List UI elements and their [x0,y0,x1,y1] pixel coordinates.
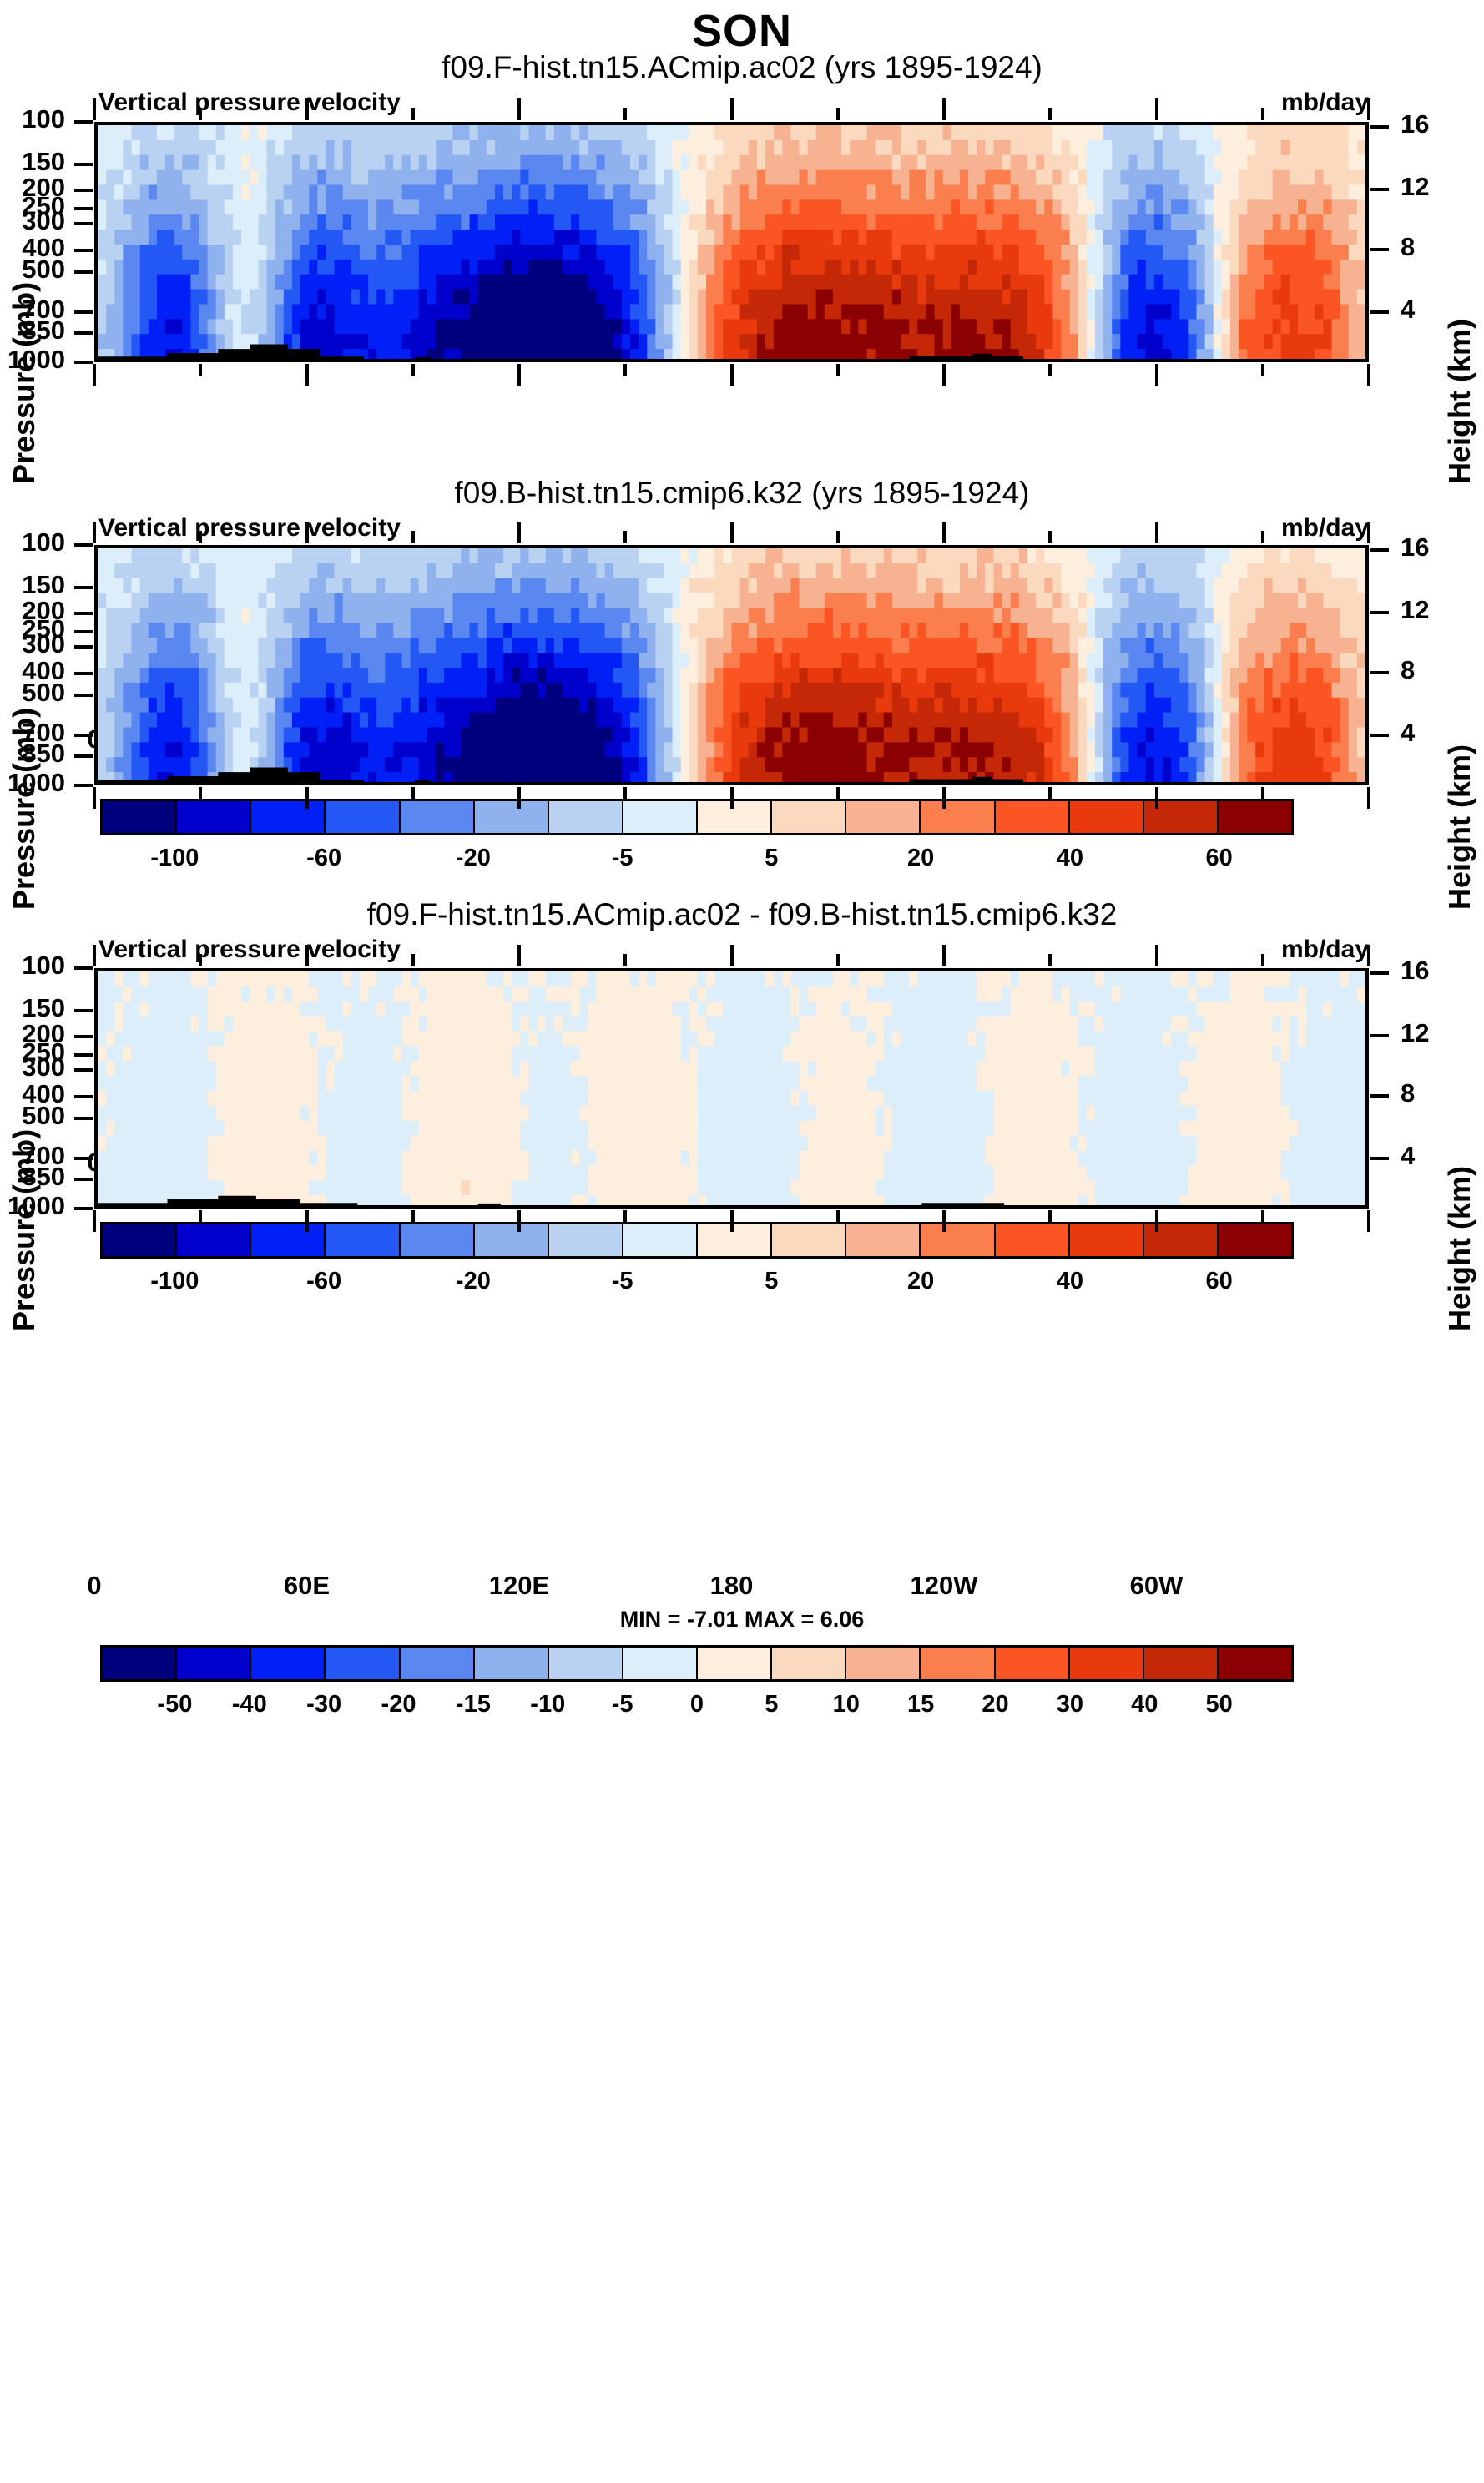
x-tick-minor [1261,787,1264,800]
colorbar-tick-label: -30 [306,1691,341,1718]
x-tick-major-top [1155,522,1158,543]
colorbar-cell [549,801,623,833]
colorbar-cell [846,1224,921,1256]
colorbar-tick-label: 50 [1205,1691,1232,1718]
y-tick-left [74,784,93,787]
panel-1-colorbar[interactable] [100,799,1294,835]
y-tick-left [74,361,93,364]
y-tick-left [74,966,93,970]
colorbar-cell [326,801,400,833]
x-tick-minor-top [1048,954,1052,966]
y-tick-right [1370,125,1389,129]
panel-2-title: f09.B-hist.tn15.cmip6.k32 (yrs 1895-1924… [0,476,1484,511]
x-tick-major-top [517,522,521,543]
y-tick-right [1370,188,1389,191]
colorbar-cell [1070,801,1144,833]
panel-1-colorbar-labels: -100-60-20-55204060 [100,845,1294,878]
colorbar-cell [401,801,475,833]
x-tick-major [730,364,734,386]
y-tick-left [74,207,93,210]
colorbar-cell [549,1224,623,1256]
y-tick-left [74,543,93,547]
y-tick-left [74,630,93,633]
colorbar-tick-label: 20 [907,1268,934,1295]
colorbar-tick-label: -50 [157,1691,192,1718]
colorbar-tick-label: -5 [612,1691,633,1718]
colorbar-cell [251,1224,326,1256]
y-tick-left [74,120,93,124]
panel-2-ylabel-left: Pressure (mb) [7,576,42,910]
colorbar-cell [846,1648,921,1679]
y-tick-label-left: 100 [0,951,65,981]
colorbar-cell [996,801,1070,833]
x-tick-minor [836,364,840,376]
colorbar-cell [475,801,549,833]
colorbar-cell [698,1648,772,1679]
panel-3-plot-area [94,968,1369,1209]
x-tick-label: 60W [1082,1571,1232,1601]
x-tick-minor [199,787,202,800]
x-tick-minor-top [836,108,840,120]
colorbar-cell [103,1224,177,1256]
page-title: SON [0,5,1484,57]
colorbar-tick-label: 60 [1205,1268,1232,1295]
panel-3-ylabel-left: Pressure (mb) [7,997,42,1331]
panel-3-title: f09.F-hist.tn15.ACmip.ac02 - f09.B-hist.… [0,897,1484,932]
y-tick-right [1370,671,1389,674]
colorbar-tick-label: -20 [381,1691,416,1718]
colorbar-tick-label: -20 [456,1268,491,1295]
y-tick-left [74,270,93,274]
panel-1-units-label: mb/day [1281,88,1369,117]
colorbar-tick-label: 0 [690,1691,704,1718]
colorbar-cell [251,801,326,833]
x-tick-major-top [730,98,734,120]
colorbar-cell [103,1648,177,1679]
colorbar-tick-label: 5 [765,845,778,872]
panel-2-plot-area [94,545,1369,785]
panel-1-ylabel-right: Height (km) [1442,150,1477,484]
colorbar-cell [996,1648,1070,1679]
y-tick-left [74,754,93,758]
x-tick-minor-top [623,954,627,966]
x-tick-minor [411,787,415,800]
colorbar-cell [1070,1648,1144,1679]
x-tick-minor-top [199,531,202,543]
panel-3-colorbar[interactable] [100,1645,1294,1682]
colorbar-tick-label: -100 [150,845,199,872]
x-tick-minor-top [623,108,627,120]
colorbar-tick-label: -100 [150,1268,199,1295]
panel-1-title: f09.F-hist.tn15.ACmip.ac02 (yrs 1895-192… [0,50,1484,85]
x-tick-minor [836,787,840,800]
y-tick-left [74,249,93,252]
x-tick-major-top [942,522,946,543]
panel-1-ylabel-left: Pressure (mb) [7,150,42,484]
x-tick-major [1367,787,1370,809]
x-tick-major [1155,1210,1158,1232]
panel-2-variable-label: Vertical pressure velocity [98,514,401,543]
colorbar-tick-label: -60 [306,845,341,872]
x-tick-major-top [93,945,96,966]
y-tick-right [1370,310,1389,314]
x-tick-major-top [730,945,734,966]
x-tick-label: 60E [232,1571,382,1601]
colorbar-cell [772,801,846,833]
x-tick-minor [411,1210,415,1223]
x-tick-major [305,1210,309,1232]
colorbar-cell [177,1648,251,1679]
x-tick-major [1367,364,1370,386]
y-tick-right [1370,971,1389,975]
x-tick-minor [411,364,415,376]
x-tick-major-top [305,98,309,120]
x-tick-major-top [1155,945,1158,966]
x-tick-major [517,1210,521,1232]
colorbar-cell [251,1648,326,1679]
colorbar-cell [326,1648,400,1679]
y-tick-left [74,310,93,314]
colorbar-cell [1219,801,1291,833]
colorbar-cell [1070,1224,1144,1256]
x-tick-minor [199,1210,202,1223]
x-tick-major [93,1210,96,1232]
colorbar-tick-label: -5 [612,845,633,872]
x-tick-major-top [305,945,309,966]
x-tick-minor [836,1210,840,1223]
x-tick-label: 0 [19,1571,169,1601]
colorbar-tick-label: 5 [765,1691,778,1718]
x-tick-minor [199,364,202,376]
x-tick-major [93,364,96,386]
colorbar-cell [177,801,251,833]
colorbar-cell [698,1224,772,1256]
panel-2-ylabel-right: Height (km) [1442,576,1477,910]
x-tick-minor-top [1261,108,1264,120]
y-tick-label-right: 16 [1401,956,1467,986]
colorbar-cell [623,801,698,833]
colorbar-tick-label: 20 [907,845,934,872]
y-tick-left [74,1095,93,1098]
colorbar-cell [1219,1224,1291,1256]
colorbar-cell [475,1224,549,1256]
x-tick-label: 180 [657,1571,807,1601]
x-tick-major-top [93,522,96,543]
x-tick-label: 120W [869,1571,1019,1601]
colorbar-tick-label: 20 [982,1691,1008,1718]
terrain-profile [98,125,1365,359]
colorbar-tick-label: -40 [232,1691,267,1718]
x-tick-minor [623,364,627,376]
y-tick-left [74,1157,93,1160]
y-tick-left [74,1178,93,1181]
x-tick-minor-top [623,531,627,543]
x-tick-major [942,787,946,809]
colorbar-tick-label: 10 [833,1691,860,1718]
colorbar-tick-label: -20 [456,845,491,872]
colorbar-tick-label: 40 [1057,845,1083,872]
colorbar-tick-label: 5 [765,1268,778,1295]
panel-1-variable-label: Vertical pressure velocity [98,88,401,117]
x-tick-major-top [1367,98,1370,120]
x-tick-minor [1048,787,1052,800]
x-tick-minor-top [199,108,202,120]
colorbar-cell [623,1224,698,1256]
colorbar-tick-label: 40 [1131,1691,1158,1718]
terrain-profile [98,548,1365,782]
x-tick-major-top [1155,98,1158,120]
x-tick-minor [1261,364,1264,376]
colorbar-cell [401,1224,475,1256]
y-tick-right [1370,548,1389,552]
x-tick-minor-top [411,531,415,543]
colorbar-tick-label: 30 [1057,1691,1083,1718]
x-tick-minor-top [199,954,202,966]
x-tick-major-top [942,945,946,966]
x-tick-major [730,1210,734,1232]
x-tick-major [730,787,734,809]
x-tick-major [1155,364,1158,386]
colorbar-tick-label: -15 [456,1691,491,1718]
y-tick-left [74,586,93,589]
x-tick-label: 120E [444,1571,594,1601]
x-tick-major-top [730,522,734,543]
y-tick-right [1370,248,1389,251]
panel-3-minmax: MIN = -7.01 MAX = 6.06 [0,1607,1484,1633]
y-tick-left [74,734,93,737]
y-tick-left [74,1207,93,1210]
x-tick-major-top [942,98,946,120]
colorbar-cell [846,801,921,833]
x-tick-major-top [93,98,96,120]
y-tick-right [1370,1034,1389,1037]
colorbar-cell [921,801,995,833]
y-tick-left [74,1068,93,1072]
colorbar-cell [549,1648,623,1679]
y-tick-left [74,694,93,697]
x-tick-major-top [517,98,521,120]
x-tick-major-top [1367,522,1370,543]
x-tick-major [517,364,521,386]
y-tick-label-right: 16 [1401,109,1467,139]
y-tick-left [74,331,93,335]
x-tick-minor [623,787,627,800]
colorbar-cell [772,1224,846,1256]
colorbar-tick-label: 40 [1057,1268,1083,1295]
y-tick-left [74,1035,93,1038]
x-tick-major [305,787,309,809]
colorbar-tick-label: -10 [530,1691,565,1718]
colorbar-cell [1144,1648,1219,1679]
colorbar-cell [698,801,772,833]
colorbar-tick-label: 15 [907,1691,934,1718]
colorbar-cell [921,1224,995,1256]
x-tick-minor-top [1261,531,1264,543]
y-tick-label-right: 16 [1401,532,1467,563]
colorbar-tick-label: -5 [612,1268,633,1295]
x-tick-major [93,787,96,809]
y-tick-left [74,1009,93,1012]
x-tick-minor-top [1048,108,1052,120]
colorbar-cell [401,1648,475,1679]
x-tick-minor-top [411,954,415,966]
x-tick-major [942,1210,946,1232]
terrain-profile [98,971,1365,1205]
colorbar-cell [103,801,177,833]
panel-2-units-label: mb/day [1281,514,1369,543]
panel-1-plot-area [94,122,1369,362]
y-tick-left [74,672,93,675]
x-tick-minor [1048,1210,1052,1223]
x-tick-major [305,364,309,386]
x-tick-minor-top [836,954,840,966]
x-tick-minor [623,1210,627,1223]
x-tick-minor [1048,364,1052,376]
colorbar-cell [772,1648,846,1679]
colorbar-cell [1219,1648,1291,1679]
y-tick-left [74,645,93,649]
colorbar-cell [623,1648,698,1679]
panel-2-colorbar[interactable] [100,1222,1294,1259]
x-tick-major [1367,1210,1370,1232]
x-tick-major-top [1367,945,1370,966]
y-tick-label-left: 100 [0,527,65,558]
y-tick-left [74,222,93,225]
panel-2-colorbar-labels: -100-60-20-55204060 [100,1268,1294,1301]
panel-3-units-label: mb/day [1281,936,1369,964]
panel-3-variable-label: Vertical pressure velocity [98,936,401,964]
y-tick-right [1370,1094,1389,1098]
colorbar-tick-label: 60 [1205,845,1232,872]
x-tick-major-top [305,522,309,543]
x-tick-minor-top [1048,531,1052,543]
y-tick-label-left: 100 [0,104,65,134]
colorbar-tick-label: -60 [306,1268,341,1295]
colorbar-cell [177,1224,251,1256]
x-tick-minor-top [411,108,415,120]
x-tick-major [517,787,521,809]
x-tick-minor-top [1261,954,1264,966]
y-tick-left [74,189,93,192]
colorbar-cell [326,1224,400,1256]
y-tick-right [1370,1157,1389,1160]
x-tick-minor [1261,1210,1264,1223]
y-tick-left [74,1053,93,1057]
colorbar-cell [921,1648,995,1679]
colorbar-cell [475,1648,549,1679]
panel-3-ylabel-right: Height (km) [1442,997,1477,1331]
x-tick-minor-top [836,531,840,543]
colorbar-cell [996,1224,1070,1256]
x-tick-major [942,364,946,386]
panel-3-colorbar-labels: -50-40-30-20-15-10-505101520304050 [100,1691,1294,1724]
y-tick-right [1370,734,1389,737]
y-tick-left [74,163,93,166]
y-tick-left [74,1117,93,1120]
x-tick-major-top [517,945,521,966]
y-tick-left [74,612,93,615]
x-tick-major [1155,787,1158,809]
y-tick-right [1370,611,1389,614]
